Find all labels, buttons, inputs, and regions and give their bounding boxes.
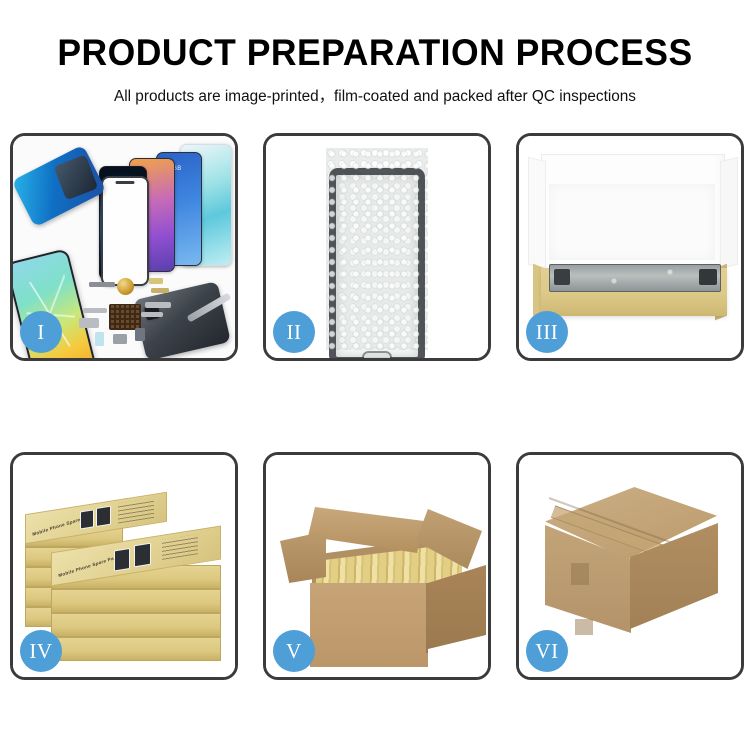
screw-tray-icon bbox=[109, 304, 141, 330]
page-subtitle: All products are image-printed，film-coat… bbox=[4, 84, 747, 106]
step-badge-2: II bbox=[273, 311, 315, 353]
process-step-panel-1[interactable]: 56 GB I bbox=[10, 133, 238, 361]
part-bracket-icon bbox=[113, 334, 127, 344]
step-badge-3: III bbox=[526, 311, 568, 353]
process-step-panel-2[interactable]: II bbox=[263, 133, 491, 361]
box-phone-image-icon bbox=[134, 543, 151, 568]
box-layer bbox=[51, 613, 221, 637]
step-badge-6: VI bbox=[526, 630, 568, 672]
process-step-panel-3[interactable]: III bbox=[516, 133, 744, 361]
carton-tab-lower-icon bbox=[575, 619, 593, 635]
foam-insert-icon bbox=[549, 184, 715, 260]
flex-cable-icon bbox=[83, 308, 107, 313]
wrapped-screen-icon bbox=[329, 168, 425, 358]
process-step-panel-4[interactable]: Mobile Phone Spare Parts Mobile Phone Sp… bbox=[10, 452, 238, 680]
carton-tab-upper-icon bbox=[571, 563, 589, 585]
bubble-wrap-icon bbox=[326, 148, 428, 350]
box-checklist-icon bbox=[162, 534, 198, 560]
box-layer bbox=[51, 589, 221, 613]
process-step-panel-5[interactable]: V bbox=[263, 452, 491, 680]
part-camera-icon bbox=[135, 328, 145, 341]
page-title: PRODUCT PREPARATION PROCESS bbox=[15, 34, 735, 73]
packed-screen-icon bbox=[549, 264, 721, 292]
part-gold-icon bbox=[149, 278, 163, 284]
carton-front-face-icon bbox=[310, 583, 428, 667]
part-battery-icon bbox=[95, 332, 104, 346]
step-badge-4: IV bbox=[20, 630, 62, 672]
speaker-coil-icon bbox=[117, 278, 134, 295]
box-brand-label: Mobile Phone Spare Parts bbox=[58, 554, 121, 578]
box-phone-image-icon bbox=[80, 509, 94, 529]
step-badge-1: I bbox=[20, 311, 62, 353]
part-gold2-icon bbox=[151, 288, 169, 293]
box-phone-image-icon bbox=[114, 548, 130, 572]
flex-cable3-icon bbox=[145, 302, 171, 308]
carton-edge-icon bbox=[426, 583, 428, 653]
box-checklist-icon bbox=[118, 498, 154, 524]
process-step-panel-6[interactable]: VI bbox=[516, 452, 744, 680]
step-badge-5: V bbox=[273, 630, 315, 672]
box-layer bbox=[51, 637, 221, 661]
page-header: PRODUCT PREPARATION PROCESS All products… bbox=[0, 0, 750, 106]
part-strip-icon bbox=[89, 282, 115, 287]
phone-notch-icon bbox=[116, 181, 135, 184]
process-steps-grid: 56 GB I bbox=[10, 133, 740, 680]
flex-cable4-icon bbox=[141, 312, 163, 317]
screen-glass-panel-icon bbox=[101, 176, 149, 286]
flex-cable2-icon bbox=[79, 318, 99, 328]
box-phone-image-icon bbox=[96, 506, 111, 527]
